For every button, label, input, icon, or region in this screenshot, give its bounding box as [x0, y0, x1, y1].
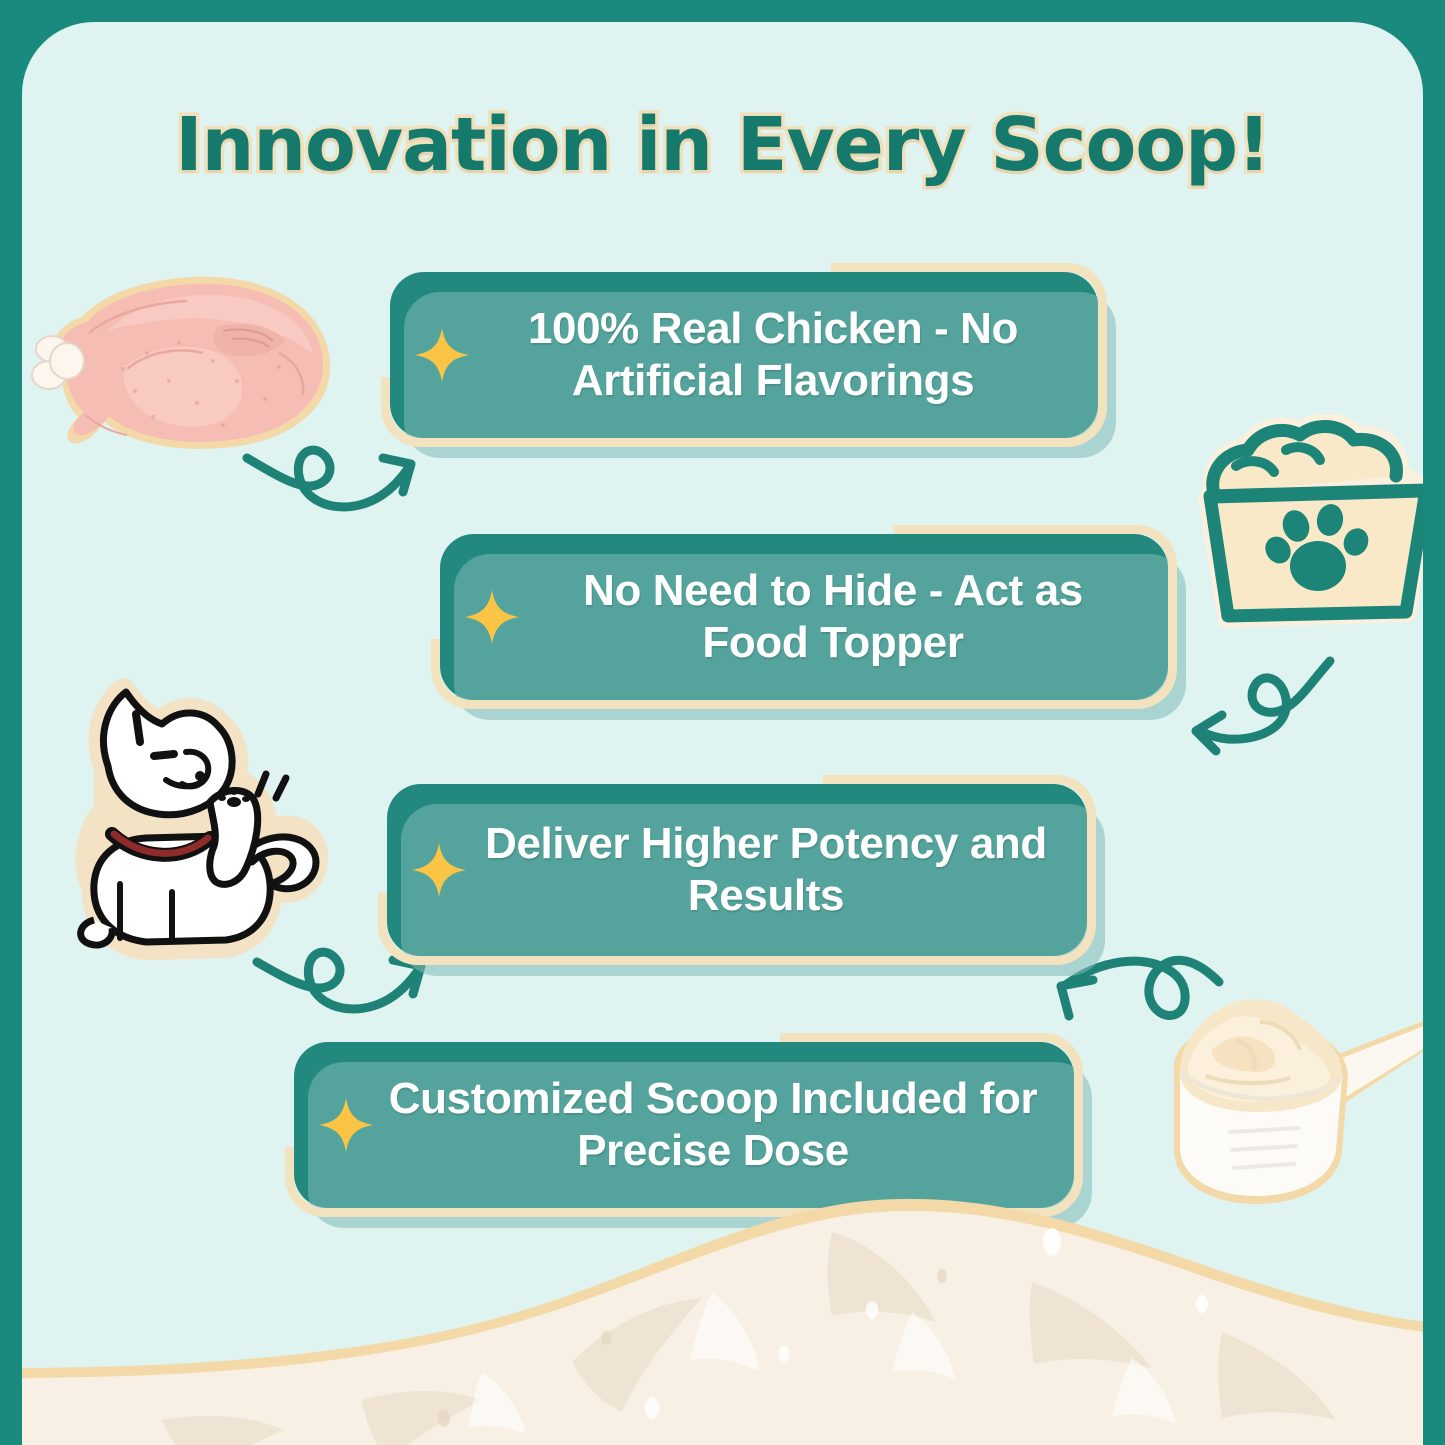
dog-food-bowl-icon [1182, 414, 1423, 636]
sparkle-star-icon [464, 589, 520, 645]
sparkle-star-icon [318, 1097, 374, 1153]
feature-card-text: Deliver Higher Potency and Results [475, 818, 1057, 922]
poster-root: Innovation in Every Scoop! [0, 0, 1445, 1445]
feature-card-food-topper[interactable]: No Need to Hide - Act as Food Topper [440, 534, 1168, 700]
page-title-container: Innovation in Every Scoop! [22, 102, 1423, 188]
powder-pile-illustration [22, 1172, 1423, 1445]
feature-card-higher-potency[interactable]: Deliver Higher Potency and Results [387, 784, 1087, 956]
sparkle-star-icon [411, 842, 467, 898]
feature-card-text: Customized Scoop Included for Precise Do… [382, 1073, 1044, 1177]
feature-card-real-chicken[interactable]: 100% Real Chicken - No Artificial Flavor… [390, 272, 1098, 438]
feature-card-text: No Need to Hide - Act as Food Topper [528, 565, 1138, 669]
feature-card-text: 100% Real Chicken - No Artificial Flavor… [478, 303, 1068, 407]
page-title: Innovation in Every Scoop! [175, 102, 1270, 188]
scratching-dog-illustration [50, 670, 340, 970]
mint-panel: Innovation in Every Scoop! [22, 22, 1423, 1445]
curly-arrow-left-icon [1172, 647, 1372, 767]
raw-chicken-illustration [27, 257, 347, 467]
sparkle-star-icon [414, 327, 470, 383]
